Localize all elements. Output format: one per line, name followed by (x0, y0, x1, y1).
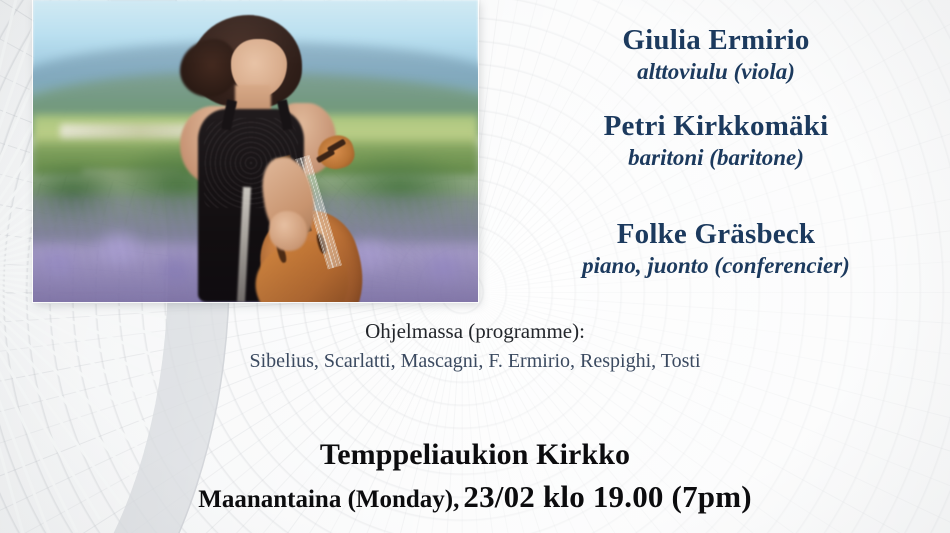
event-day: Maanantaina (Monday), (198, 486, 459, 513)
performer-credit-2: Petri Kirkkomäki baritoni (baritone) (490, 110, 942, 172)
venue-name: Temppeliaukion Kirkko (0, 437, 950, 473)
event-time: 23/02 klo 19.00 (7pm) (463, 479, 751, 514)
performer-credit-1: Giulia Ermirio alttoviulu (viola) (490, 24, 942, 86)
performer-role-2: baritoni (baritone) (490, 144, 942, 172)
performer-role-3: piano, juonto (conferencier) (490, 252, 942, 280)
programme-section: Ohjelmassa (programme): Sibelius, Scarla… (0, 318, 950, 374)
concert-poster: Giulia Ermirio alttoviulu (viola) Petri … (0, 0, 950, 533)
programme-heading: Ohjelmassa (programme): (0, 318, 950, 344)
performer-photo (33, 0, 478, 302)
event-date-line: Maanantaina (Monday), 23/02 klo 19.00 (7… (0, 479, 950, 515)
performer-name-1: Giulia Ermirio (490, 24, 942, 56)
photo-color-grade (33, 0, 478, 302)
performer-role-1: alttoviulu (viola) (490, 58, 942, 86)
performer-name-2: Petri Kirkkomäki (490, 110, 942, 142)
programme-composers: Sibelius, Scarlatti, Mascagni, F. Ermiri… (0, 348, 950, 374)
venue-section: Temppeliaukion Kirkko Maanantaina (Monda… (0, 437, 950, 515)
performer-credit-3: Folke Gräsbeck piano, juonto (conferenci… (490, 218, 942, 280)
performer-name-3: Folke Gräsbeck (490, 218, 942, 250)
